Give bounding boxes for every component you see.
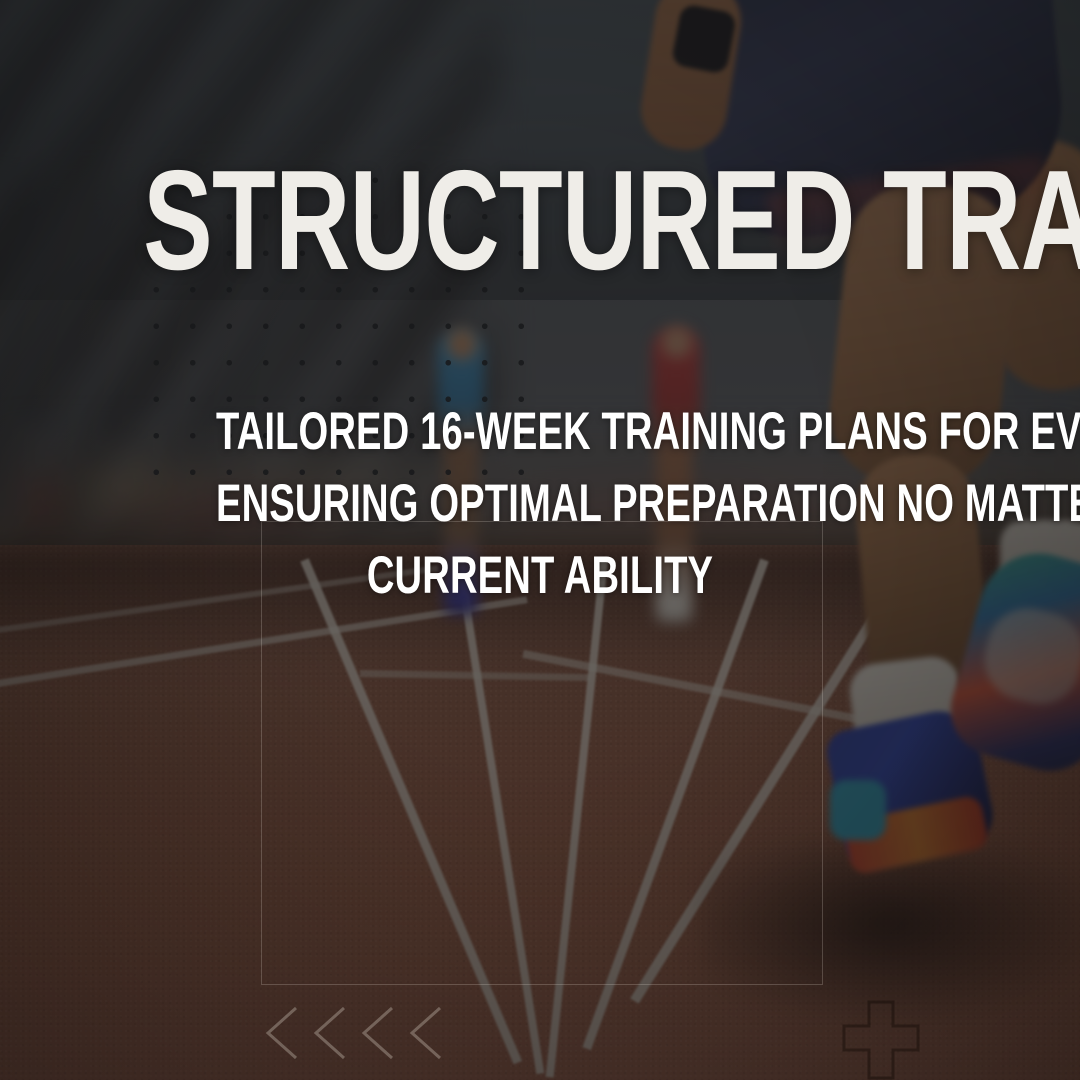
page-title: STRUCTURED TRAINING [143,150,937,292]
chevron-left-icon [402,1002,448,1064]
subheadline-line-2: ENSURING OPTIMAL PREPARATION NO MATTER Y… [216,468,864,540]
chevron-left-icon [354,1002,400,1064]
plus-cross-icon [842,1000,920,1080]
chevron-left-icon [258,1002,304,1064]
subheadline-line-3: CURRENT ABILITY [216,540,864,612]
poster-canvas: STRUCTURED TRAINING TAILORED 16-WEEK TRA… [0,0,1080,1080]
subheadline-line-1: TAILORED 16-WEEK TRAINING PLANS FOR EVER… [216,396,864,468]
chevron-left-icon [306,1002,352,1064]
chevron-group [258,1002,488,1068]
subheadline: TAILORED 16-WEEK TRAINING PLANS FOR EVER… [90,396,990,612]
